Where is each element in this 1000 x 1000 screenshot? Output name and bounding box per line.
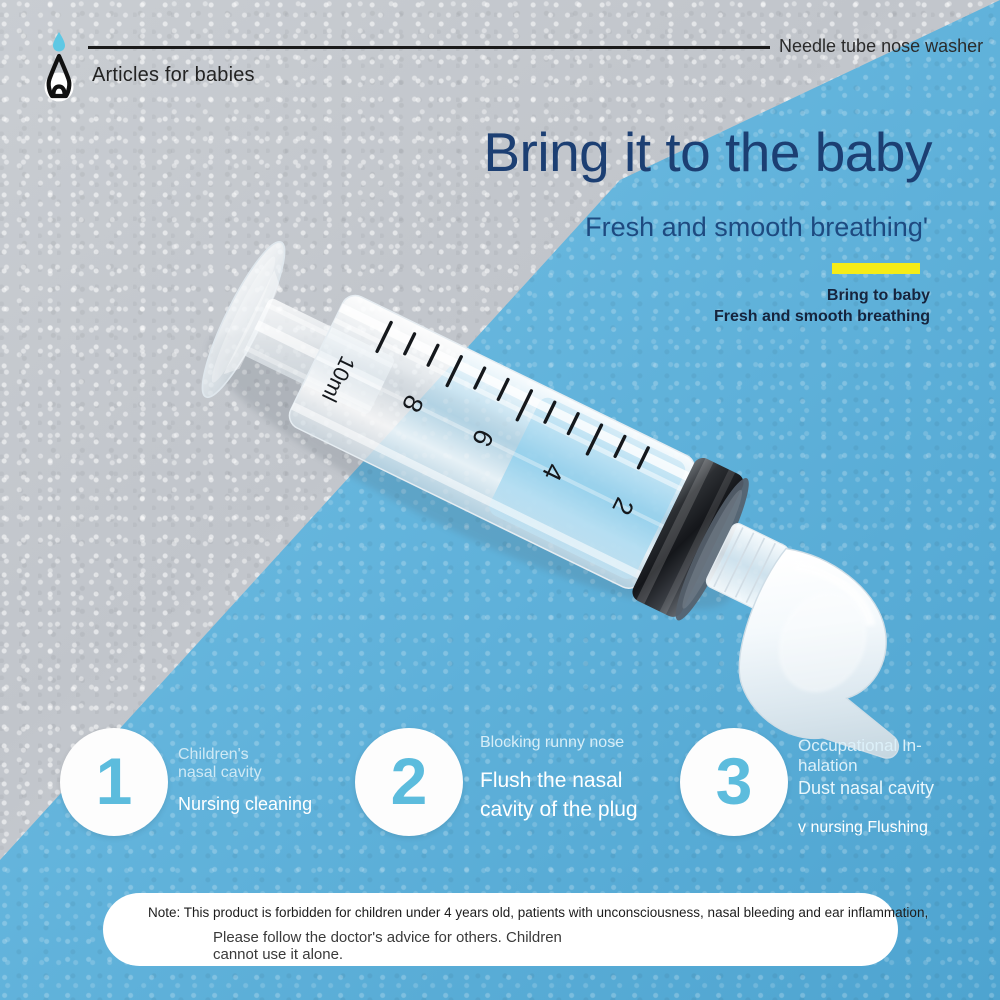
note-box: Note: This product is forbidden for chil… [103,893,898,966]
feature-top-2: Blocking runny nose [480,734,680,752]
feature-number-1: 1 [96,748,133,814]
note-line-2a: Please follow the doctor's advice for ot… [213,930,813,947]
note-line-2: Please follow the doctor's advice for ot… [213,930,813,964]
feature-number-2: 2 [391,748,428,814]
feature-badge-2: 2 [355,728,463,836]
feature-top-3: Occupational In- halation [798,736,1000,775]
feature-top-3-line1: Occupational In- [798,736,1000,756]
feature-bottom-3: v nursing Flushing [798,818,1000,838]
feature-top-3-line2: halation [798,756,1000,776]
feature-list: 1 Children's nasal cavity Nursing cleani… [0,728,1000,858]
feature-bottom-2-line1: Flush the nasal [480,766,680,795]
feature-badge-3: 3 [680,728,788,836]
feature-top-1-line1: Children's [178,746,388,764]
feature-bottom-2-line2: cavity of the plug [480,795,680,824]
feature-badge-1: 1 [60,728,168,836]
note-line-2b: cannot use it alone. [213,947,813,964]
feature-mid-3: Dust nasal cavity [798,777,1000,800]
feature-text-2: Blocking runny nose Flush the nasal cavi… [480,734,680,825]
feature-number-3: 3 [716,748,753,814]
product-photo-syringe: 10ml 8 6 4 2 [0,0,1000,760]
poster-canvas: Articles for babies Needle tube nose was… [0,0,1000,1000]
note-line-1: Note: This product is forbidden for chil… [148,905,868,920]
feature-bottom-2: Flush the nasal cavity of the plug [480,766,680,825]
feature-text-3: Occupational In- halation Dust nasal cav… [798,736,1000,837]
